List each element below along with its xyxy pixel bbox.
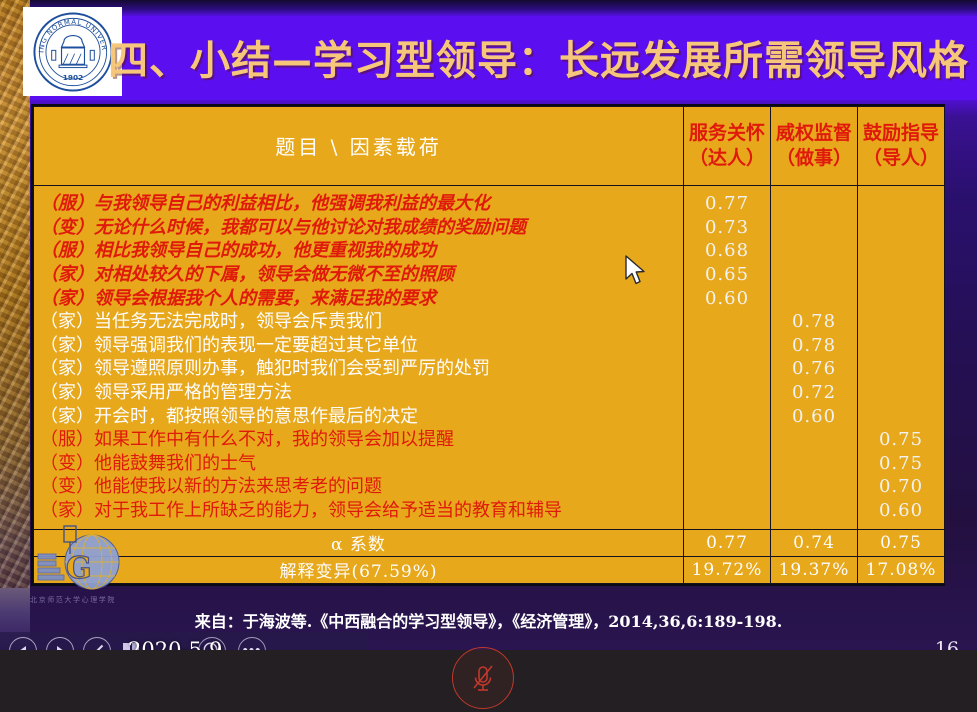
variance-value-1: 19.72% — [684, 556, 771, 583]
loading-value — [858, 192, 944, 216]
microphone-mute-button[interactable] — [452, 647, 514, 709]
page-number: 16 — [935, 638, 959, 650]
loading-value — [771, 499, 857, 523]
loading-value — [684, 357, 770, 381]
loading-list-2: 0.780.780.760.720.60 — [771, 192, 857, 522]
table-row: （家）领导会根据我个人的需要，来满足我的要求 — [34, 287, 683, 311]
loading-value — [858, 287, 944, 311]
loading-value: 0.76 — [771, 357, 857, 381]
table-row: （服）与我领导自己的利益相比，他强调我利益的最大化 — [34, 192, 683, 216]
loading-value: 0.73 — [684, 216, 770, 240]
item-list: （服）与我领导自己的利益相比，他强调我利益的最大化（变）无论什么时候，我都可以与… — [34, 192, 683, 522]
screen: BEIJING NORMAL UNIVERSITY 1902 四、小结—学习型领… — [0, 0, 977, 712]
loading-value — [858, 263, 944, 287]
loading-value: 0.72 — [771, 381, 857, 405]
loading-value — [858, 310, 944, 334]
items-cell: （服）与我领导自己的利益相比，他强调我利益的最大化（变）无论什么时候，我都可以与… — [34, 185, 684, 529]
table-header-row: 题目 \ 因素载荷 服务关怀（达人） 威权监督（做事） 鼓励指导（导人） — [34, 107, 945, 186]
svg-text:1902: 1902 — [62, 72, 83, 81]
alpha-value-3: 0.75 — [858, 529, 945, 556]
loading-value: 0.60 — [684, 287, 770, 311]
loading-list-1: 0.770.730.680.650.60 — [684, 192, 770, 522]
loading-value — [771, 239, 857, 263]
source-citation: 来自：于海波等.《中西融合的学习型领导》，《经济管理》，2014,36,6:18… — [0, 608, 977, 632]
loading-value — [858, 357, 944, 381]
loading-value — [858, 381, 944, 405]
top-gradient — [0, 0, 977, 17]
loading-value — [771, 192, 857, 216]
loading-value — [684, 334, 770, 358]
table-row: （家）开会时，都按照领导的意思作最后的决定 — [34, 405, 683, 429]
table-body-row: （服）与我领导自己的利益相比，他强调我利益的最大化（变）无论什么时候，我都可以与… — [34, 185, 945, 529]
alpha-value-2: 0.74 — [771, 529, 858, 556]
loading-value — [684, 452, 770, 476]
microphone-muted-icon — [466, 661, 500, 695]
loading-value: 0.75 — [858, 452, 944, 476]
loading-value: 0.77 — [684, 192, 770, 216]
page-title: 四、小结—学习型领导：长远发展所需领导风格 — [108, 30, 968, 92]
table-row: （变）他能使我以新的方法来思考老的问题 — [34, 475, 683, 499]
loading-value — [771, 452, 857, 476]
loading-value: 0.65 — [684, 263, 770, 287]
table-row: （家）领导采用严格的管理方法 — [34, 381, 683, 405]
loading-value: 0.78 — [771, 310, 857, 334]
loading-cell-3: 0.750.750.700.60 — [858, 185, 945, 529]
variance-value-2: 19.37% — [771, 556, 858, 583]
variance-value-3: 17.08% — [858, 556, 945, 583]
loading-value — [684, 310, 770, 334]
loading-value — [771, 428, 857, 452]
loading-value: 0.75 — [858, 428, 944, 452]
table-row: （家）领导遵照原则办事，触犯时我们会受到严厉的处罚 — [34, 357, 683, 381]
loading-value — [684, 381, 770, 405]
alpha-label: α 系数 — [34, 529, 684, 556]
table-row: （家）对相处较久的下属，领导会做无微不至的照顾 — [34, 263, 683, 287]
table-row: （家）领导强调我们的表现一定要超过其它单位 — [34, 334, 683, 358]
table-row: （服）如果工作中有什么不对，我的领导会加以提醒 — [34, 428, 683, 452]
presentation-slide: BEIJING NORMAL UNIVERSITY 1902 四、小结—学习型领… — [0, 0, 977, 650]
loading-value — [858, 216, 944, 240]
loading-value: 0.78 — [771, 334, 857, 358]
summary-row-variance: 解释变异(67.59%) 19.72% 19.37% 17.08% — [34, 556, 945, 583]
loading-value — [858, 405, 944, 429]
table-row: （服）相比我领导自己的成功，他更重视我的成功 — [34, 239, 683, 263]
table-row: （变）无论什么时候，我都可以与他讨论对我成绩的奖励问题 — [34, 216, 683, 240]
loading-value — [684, 475, 770, 499]
loading-value — [771, 263, 857, 287]
matrix-table: 题目 \ 因素载荷 服务关怀（达人） 威权监督（做事） 鼓励指导（导人） （服）… — [33, 106, 945, 584]
loading-value: 0.70 — [858, 475, 944, 499]
loading-value — [858, 239, 944, 263]
loading-value: 0.60 — [858, 499, 944, 523]
table-row: （变）他能鼓舞我们的士气 — [34, 452, 683, 476]
loading-value — [771, 287, 857, 311]
alpha-value-1: 0.77 — [684, 529, 771, 556]
loading-value — [771, 216, 857, 240]
loading-value — [684, 499, 770, 523]
variance-label: 解释变异(67.59%) — [34, 556, 684, 583]
loading-value: 0.60 — [771, 405, 857, 429]
loading-cell-2: 0.780.780.760.720.60 — [771, 185, 858, 529]
header-col-1: 服务关怀（达人） — [684, 107, 771, 186]
loading-value — [771, 475, 857, 499]
factor-loading-table: 题目 \ 因素载荷 服务关怀（达人） 威权监督（做事） 鼓励指导（导人） （服）… — [31, 104, 945, 586]
header-col-2: 威权监督（做事） — [771, 107, 858, 186]
header-item: 题目 \ 因素载荷 — [34, 107, 684, 186]
loading-value — [858, 334, 944, 358]
loading-cell-1: 0.770.730.680.650.60 — [684, 185, 771, 529]
table-row: （家）对于我工作上所缺乏的能力，领导会给予适当的教育和辅导 — [34, 499, 683, 523]
bnu-seal-icon: BEIJING NORMAL UNIVERSITY 1902 — [32, 11, 114, 93]
loading-value: 0.68 — [684, 239, 770, 263]
summary-row-alpha: α 系数 0.77 0.74 0.75 — [34, 529, 945, 556]
loading-list-3: 0.750.750.700.60 — [858, 192, 944, 522]
loading-value — [684, 405, 770, 429]
loading-value — [684, 428, 770, 452]
header-col-3: 鼓励指导（导人） — [858, 107, 945, 186]
table-row: （家）当任务无法完成时，领导会斥责我们 — [34, 310, 683, 334]
